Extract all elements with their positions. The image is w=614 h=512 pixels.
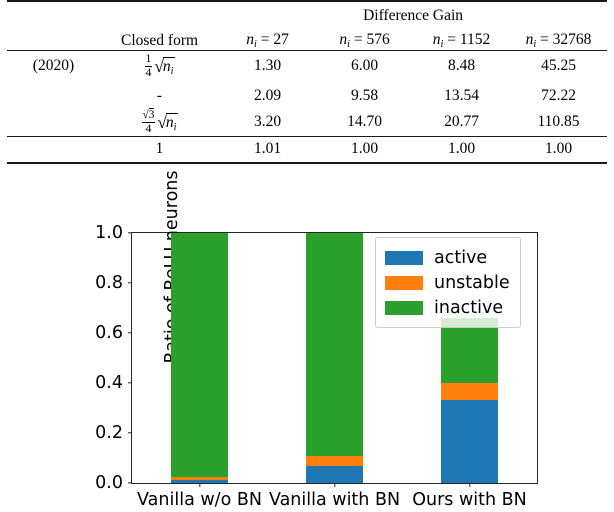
- sqrt-expression: √ni: [155, 113, 177, 133]
- row-label: [7, 109, 100, 136]
- table-row: √3 4 √ni 3.20 14.70 20.77 110.85: [7, 109, 607, 136]
- fraction-one-quarter: 1 4: [145, 53, 153, 79]
- y-axis-tick-mark: [128, 282, 132, 283]
- group-header-spacer-1: [7, 1, 100, 25]
- cell-value: 8.48: [413, 50, 510, 82]
- bar-segment-inactive[interactable]: [441, 318, 498, 383]
- stacked-bar[interactable]: [171, 233, 228, 483]
- x-axis-tick-label: Ours with BN: [412, 490, 527, 510]
- row-label: [7, 82, 100, 109]
- sqrt3-radical-icon: √: [143, 109, 149, 121]
- cell-value: 13.54: [413, 82, 510, 109]
- cell-value: 9.58: [316, 82, 413, 109]
- bar-segment-inactive[interactable]: [171, 233, 228, 477]
- x-axis-tick-mark: [199, 483, 200, 487]
- relu-neuron-ratio-chart: Ratio of ReLU neurons 0.00.20.40.60.81.0…: [0, 196, 614, 512]
- group-header-difference-gain: Difference Gain: [219, 1, 607, 25]
- row-closed-form: -: [100, 82, 219, 109]
- y-axis-tick-mark: [128, 432, 132, 433]
- y-axis-tick-label: 0.2: [95, 423, 132, 443]
- stacked-bar[interactable]: [306, 233, 363, 483]
- column-header-n-32768: ni = 32768: [510, 25, 607, 50]
- table-column-header-row: Closed form ni = 27 ni = 576 ni = 1152 n…: [7, 25, 607, 50]
- fraction-denominator: 4: [142, 123, 156, 136]
- n-subscript: i: [441, 39, 444, 50]
- x-axis-tick-label: Vanilla with BN: [269, 490, 400, 510]
- legend-item: active: [385, 245, 510, 270]
- legend-item: inactive: [385, 295, 510, 320]
- n-subscript: i: [254, 39, 257, 50]
- radicand-subscript: i: [174, 122, 177, 133]
- cell-value: 1.00: [413, 136, 510, 163]
- table-footer-row: 1 1.01 1.00 1.00 1.00: [7, 136, 607, 163]
- cell-value: 1.00: [316, 136, 413, 163]
- row-closed-form: 1 4 √ni: [100, 50, 219, 82]
- legend-swatch-inactive: [385, 301, 423, 315]
- y-axis-tick-mark: [128, 382, 132, 383]
- fraction-numerator: √3: [142, 109, 156, 123]
- cell-value: 1.01: [219, 136, 316, 163]
- row-label: [7, 136, 100, 163]
- cell-value: 1.00: [510, 136, 607, 163]
- cell-value: 14.70: [316, 109, 413, 136]
- bar-segment-active[interactable]: [306, 466, 363, 483]
- column-header-n-27: ni = 27: [219, 25, 316, 50]
- cell-value: 72.22: [510, 82, 607, 109]
- n-symbol: n: [246, 31, 254, 48]
- n-subscript: i: [347, 39, 350, 50]
- row-closed-form: √3 4 √ni: [100, 109, 219, 136]
- x-axis-tick-mark: [469, 483, 470, 487]
- legend-label: unstable: [434, 273, 510, 293]
- radicand-subscript: i: [171, 66, 174, 77]
- y-axis-tick-label: 0.8: [95, 273, 132, 293]
- cell-value: 1.30: [219, 50, 316, 82]
- y-axis-tick-label: 0.6: [95, 323, 132, 343]
- y-axis-tick-mark: [128, 232, 132, 233]
- n-subscript: i: [533, 39, 536, 50]
- column-header-closed-form: Closed form: [100, 25, 219, 50]
- legend-item: unstable: [385, 270, 510, 295]
- fraction-numerator-value: 3: [149, 108, 155, 121]
- radicand-base: n: [166, 114, 174, 131]
- chart-legend: activeunstableinactive: [375, 237, 521, 328]
- bar-segment-active[interactable]: [441, 400, 498, 483]
- y-axis-tick-label: 0.0: [95, 473, 132, 493]
- cell-value: 45.25: [510, 50, 607, 82]
- group-header-spacer-2: [100, 1, 219, 25]
- y-axis-tick-mark: [128, 332, 132, 333]
- bar-segment-active[interactable]: [171, 480, 228, 483]
- table-row: - 2.09 9.58 13.54 72.22: [7, 82, 607, 109]
- n-symbol: n: [339, 31, 347, 48]
- difference-gain-table: Difference Gain Closed form ni = 27 ni =…: [7, 0, 607, 164]
- fraction-sqrt3-over-4: √3 4: [142, 109, 156, 135]
- table-body: (2020) 1 4 √ni 1.30 6.00 8.48 45.25 - 2.…: [7, 50, 607, 163]
- chart-plot-area: Ratio of ReLU neurons 0.00.20.40.60.81.0…: [131, 232, 538, 484]
- bar-segment-unstable[interactable]: [306, 456, 363, 466]
- table-row: (2020) 1 4 √ni 1.30 6.00 8.48 45.25: [7, 50, 607, 82]
- legend-swatch-unstable: [385, 276, 423, 290]
- cell-value: 20.77: [413, 109, 510, 136]
- fraction-denominator: 4: [145, 67, 153, 80]
- legend-label: inactive: [434, 298, 503, 318]
- radicand: ni: [166, 113, 178, 133]
- radicand: ni: [163, 57, 175, 77]
- bar-segment-unstable[interactable]: [171, 477, 228, 480]
- row-closed-form: 1: [100, 136, 219, 163]
- fraction-numerator: 1: [145, 53, 153, 67]
- x-axis-tick-label: Vanilla w/o BN: [137, 490, 262, 510]
- x-axis-tick-mark: [334, 483, 335, 487]
- column-header-n-576: ni = 576: [316, 25, 413, 50]
- results-table-region: Difference Gain Closed form ni = 27 ni =…: [0, 0, 614, 175]
- cell-value: 3.20: [219, 109, 316, 136]
- y-axis-tick-mark: [128, 482, 132, 483]
- column-header-n-1152: ni = 1152: [413, 25, 510, 50]
- y-axis-tick-label: 1.0: [95, 223, 132, 243]
- legend-swatch-active: [385, 251, 423, 265]
- row-label: (2020): [7, 50, 100, 82]
- radicand-base: n: [163, 58, 171, 75]
- table-head: Difference Gain Closed form ni = 27 ni =…: [7, 1, 607, 50]
- legend-label: active: [434, 248, 487, 268]
- column-header-empty: [7, 25, 100, 50]
- table-group-header-row: Difference Gain: [7, 1, 607, 25]
- bar-segment-unstable[interactable]: [441, 383, 498, 400]
- sqrt-expression: √ni: [152, 57, 174, 77]
- n-symbol: n: [433, 31, 441, 48]
- bar-segment-inactive[interactable]: [306, 233, 363, 456]
- cell-value: 2.09: [219, 82, 316, 109]
- y-axis-tick-label: 0.4: [95, 373, 132, 393]
- cell-value: 6.00: [316, 50, 413, 82]
- cell-value: 110.85: [510, 109, 607, 136]
